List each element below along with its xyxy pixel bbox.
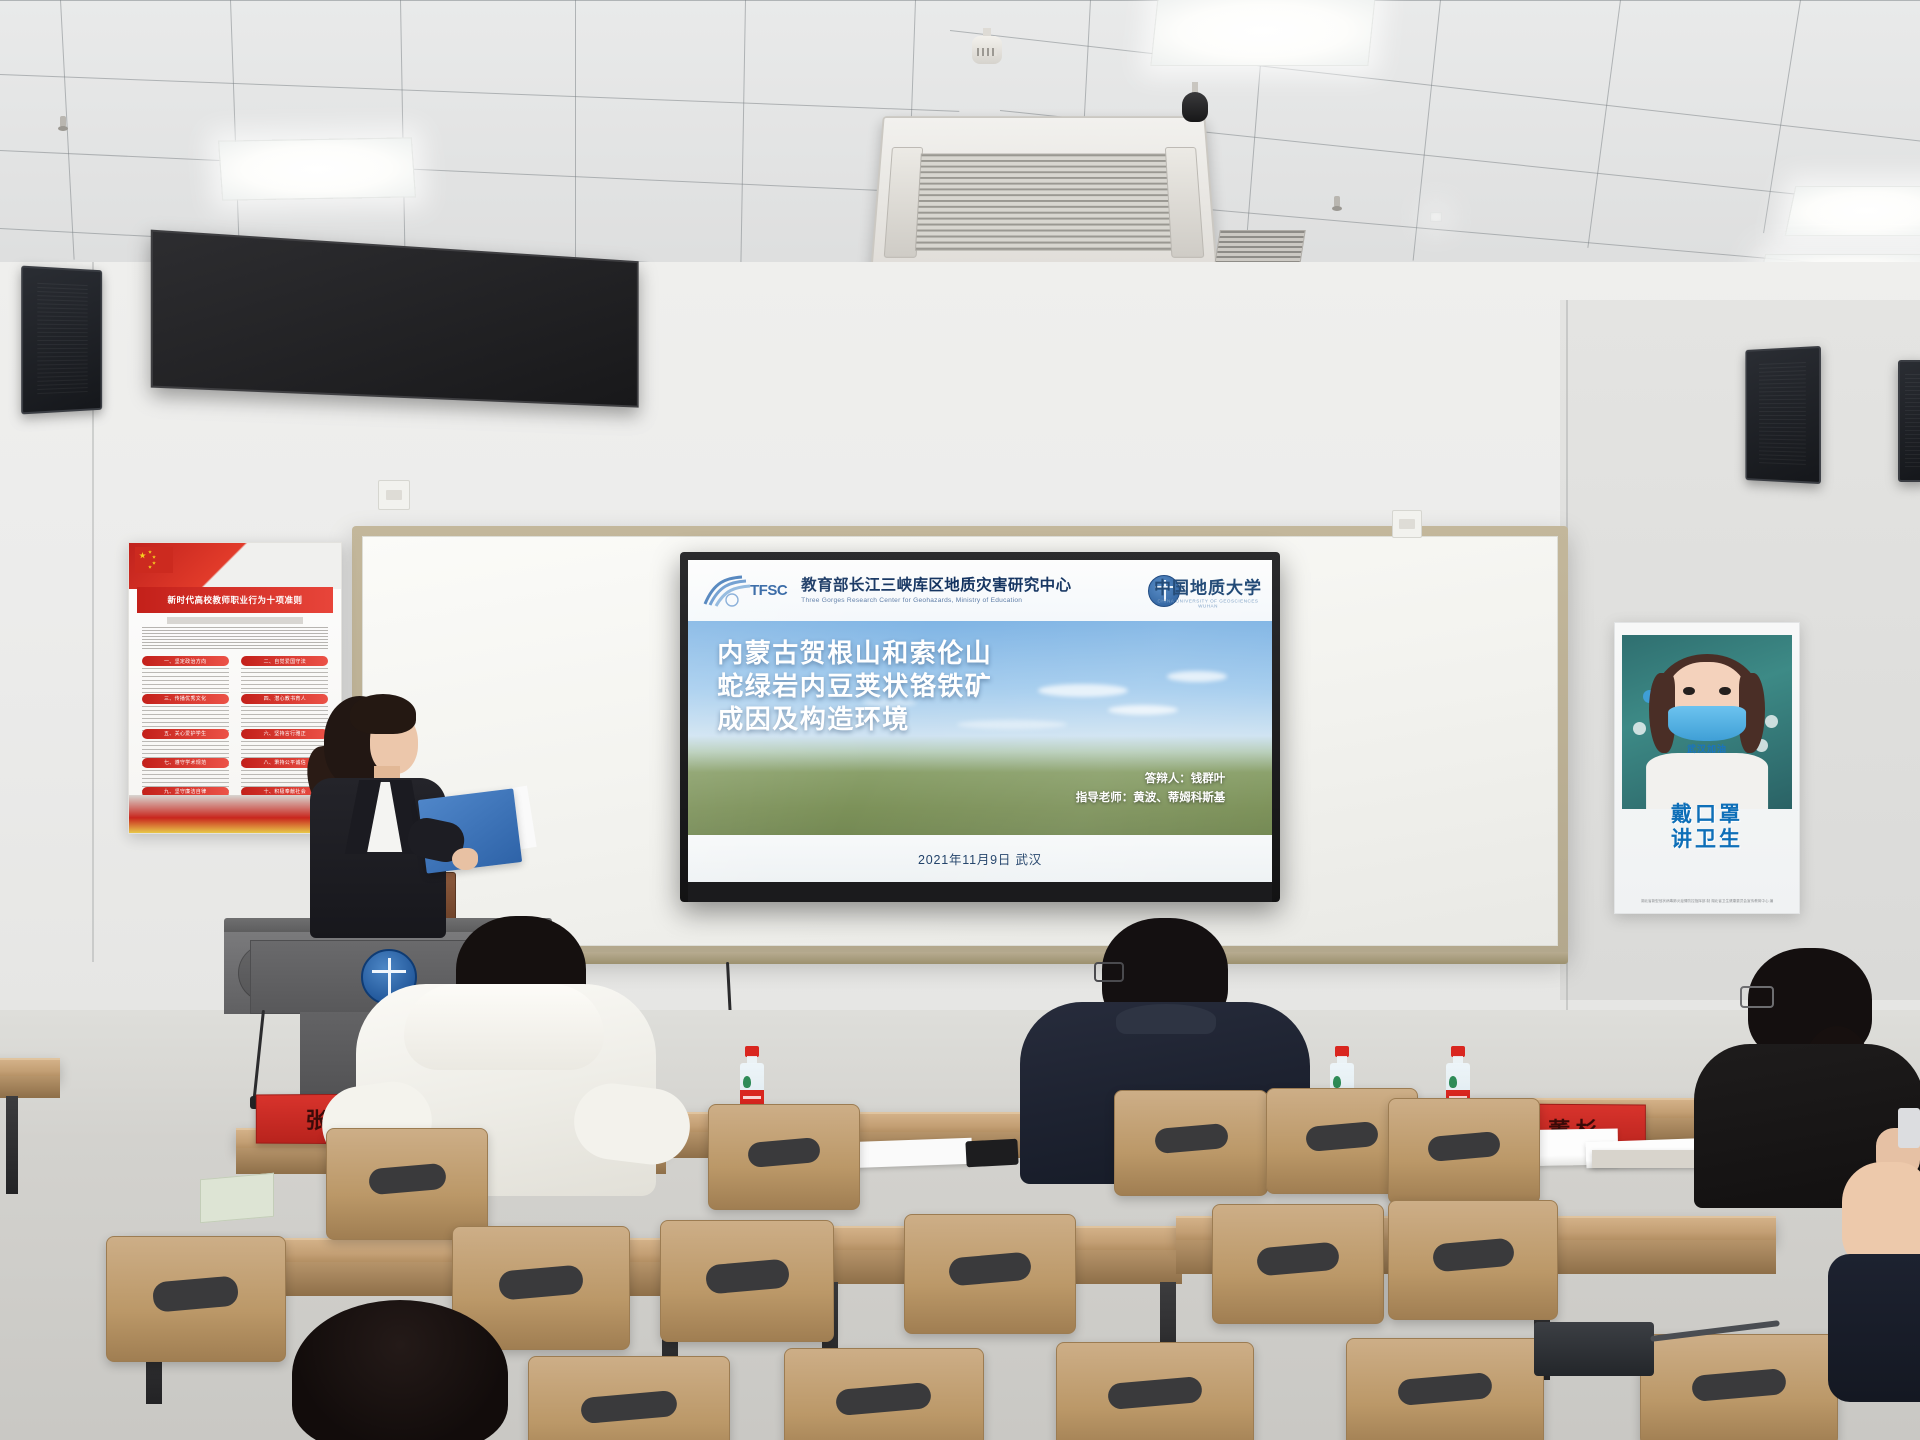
wall-outlet[interactable] bbox=[378, 480, 410, 510]
wall-speaker-right bbox=[1745, 346, 1821, 484]
smoke-detector-icon bbox=[972, 28, 1002, 64]
ceiling-light-panel bbox=[218, 137, 416, 200]
classroom-photo-scene: TFSC 教育部长江三峡库区地质灾害研究中心 Three Gorges Rese… bbox=[0, 0, 1920, 1440]
chair[interactable] bbox=[784, 1348, 984, 1440]
slide-advisor-line: 指导老师：黄波、蒂姆科斯基 bbox=[1076, 789, 1226, 808]
chair[interactable] bbox=[528, 1356, 730, 1440]
audience-person-right-edge bbox=[1828, 1162, 1920, 1402]
interactive-display[interactable]: TFSC 教育部长江三峡库区地质灾害研究中心 Three Gorges Rese… bbox=[680, 552, 1280, 902]
equipment-box bbox=[1534, 1322, 1654, 1376]
wall-speaker-far-right bbox=[1898, 360, 1920, 482]
university-name-block: 中国地质大学 CHINA UNIVERSITY OF GEOSCIENCES W… bbox=[1154, 573, 1262, 608]
side-table-front bbox=[0, 1076, 60, 1098]
poster-left-title: 新时代高校教师职业行为十项准则 bbox=[137, 587, 332, 613]
slide-title: 内蒙古贺根山和索伦山 蛇绿岩内豆荚状铬铁矿 成因及构造环境 bbox=[717, 637, 992, 737]
sprinkler-icon bbox=[58, 116, 68, 136]
floor-sign bbox=[200, 1173, 274, 1223]
slide-date: 2021年11月9日 武汉 bbox=[918, 849, 1042, 868]
audience-person-front-row bbox=[262, 1300, 538, 1440]
wall-outlet[interactable] bbox=[1392, 510, 1422, 538]
sprinkler-icon bbox=[1332, 196, 1342, 216]
smartphone[interactable] bbox=[965, 1139, 1018, 1168]
held-device[interactable] bbox=[1898, 1108, 1920, 1148]
poster-wear-mask: 武汉加油 戴口罩 讲卫生 湖北省新型冠状病毒肺炎疫情防控指挥部 制 湖北省卫生健… bbox=[1614, 622, 1800, 914]
slide-title-line-3: 成因及构造环境 bbox=[717, 703, 992, 736]
face-mask-icon bbox=[1668, 706, 1746, 741]
slide-header: TFSC 教育部长江三峡库区地质灾害研究中心 Three Gorges Rese… bbox=[688, 560, 1272, 621]
person-collar bbox=[1116, 1004, 1216, 1034]
desk-leg bbox=[6, 1096, 18, 1194]
poster-left-subtitle bbox=[167, 617, 303, 624]
chair[interactable] bbox=[1388, 1200, 1558, 1320]
slide-presenter-line: 答辩人：钱群叶 bbox=[1076, 770, 1226, 789]
chair[interactable] bbox=[1114, 1090, 1268, 1196]
ceiling-light-panel bbox=[1430, 212, 1442, 222]
chair[interactable] bbox=[1640, 1334, 1838, 1440]
china-flag-icon bbox=[135, 547, 173, 573]
ceiling-camera-icon bbox=[1182, 82, 1208, 122]
chair[interactable] bbox=[1212, 1204, 1384, 1324]
slide-title-line-2: 蛇绿岩内豆荚状铬铁矿 bbox=[717, 670, 992, 703]
poster-left-banner bbox=[129, 543, 341, 589]
university-sub-en: WUHAN bbox=[1154, 603, 1262, 608]
person-hood bbox=[404, 984, 604, 1070]
poster-left-intro-text bbox=[142, 627, 329, 650]
slide-title-line-1: 内蒙古贺根山和索伦山 bbox=[717, 637, 992, 670]
slide-credits: 答辩人：钱群叶 指导老师：黄波、蒂姆科斯基 bbox=[1076, 770, 1226, 808]
university-name-cn: 中国地质大学 bbox=[1154, 573, 1262, 598]
chair[interactable] bbox=[1346, 1338, 1544, 1440]
wall-speaker-left bbox=[21, 266, 102, 415]
chair[interactable] bbox=[660, 1220, 834, 1342]
chair[interactable] bbox=[326, 1128, 488, 1240]
poster-right-credit: 湖北省新型冠状病毒肺炎疫情防控指挥部 制 湖北省卫生健康委员会宣传教育中心 编 bbox=[1615, 899, 1799, 905]
org-name-block: 教育部长江三峡库区地质灾害研究中心 Three Gorges Research … bbox=[801, 577, 1071, 604]
presenter-hand bbox=[452, 848, 478, 870]
display-bezel-chin bbox=[688, 882, 1272, 902]
eyeglasses-icon bbox=[1740, 986, 1774, 1008]
chair[interactable] bbox=[904, 1214, 1076, 1334]
poster-right-shirt-text: 武汉加油 bbox=[1687, 742, 1727, 755]
display-screen[interactable]: TFSC 教育部长江三峡库区地质灾害研究中心 Three Gorges Rese… bbox=[688, 560, 1272, 882]
poster-left-item: 一、坚定政治方向 bbox=[142, 656, 229, 694]
poster-right-slogan-line2: 讲卫生 bbox=[1615, 828, 1799, 853]
chair[interactable] bbox=[708, 1104, 860, 1210]
desk-papers bbox=[846, 1138, 973, 1168]
poster-right-slogan: 戴口罩 讲卫生 bbox=[1615, 803, 1799, 853]
ceiling-light-panel bbox=[1785, 186, 1920, 236]
org-name-cn: 教育部长江三峡库区地质灾害研究中心 bbox=[801, 577, 1071, 594]
poster-left-item: 二、自觉爱国守法 bbox=[241, 656, 328, 694]
tfsc-logo-icon bbox=[702, 574, 756, 608]
chair[interactable] bbox=[1388, 1098, 1540, 1204]
eyeglasses-icon bbox=[1094, 962, 1124, 982]
org-name-en: Three Gorges Research Center for Geohaza… bbox=[801, 597, 1071, 604]
person-sleeve bbox=[1828, 1254, 1920, 1402]
presenter-person bbox=[300, 690, 480, 940]
ceiling-projector-box bbox=[151, 230, 639, 408]
poster-left-item: 三、传播优秀文化 bbox=[142, 694, 229, 732]
chair[interactable] bbox=[1056, 1342, 1254, 1440]
slide-date-bar: 2021年11月9日 武汉 bbox=[688, 835, 1272, 882]
poster-right-slogan-line1: 戴口罩 bbox=[1615, 803, 1799, 828]
ceiling-light-panel bbox=[1150, 0, 1375, 66]
chair[interactable] bbox=[106, 1236, 286, 1362]
person-head bbox=[292, 1300, 508, 1440]
presenter-hair-front bbox=[350, 694, 416, 734]
slide-background-photo: 内蒙古贺根山和索伦山 蛇绿岩内豆荚状铬铁矿 成因及构造环境 答辩人：钱群叶 指导… bbox=[688, 621, 1272, 882]
poster-right-illustration: 武汉加油 bbox=[1622, 635, 1791, 809]
